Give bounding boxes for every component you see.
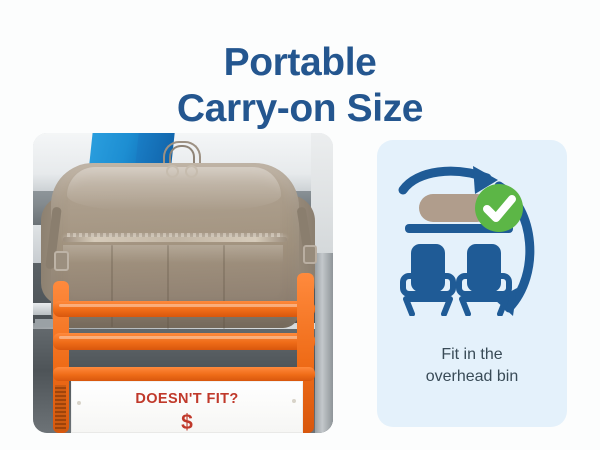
page-title-line-2: Carry-on Size — [0, 86, 600, 132]
bag-pocket-highlight — [63, 245, 283, 263]
overhead-bin-icon — [395, 164, 549, 316]
page-title: Portable Carry-on Size — [0, 40, 600, 132]
kiosk-metal-edge — [315, 253, 333, 433]
page-title-line-1: Portable — [0, 40, 600, 86]
bag-zipper — [63, 237, 287, 242]
sizer-vent-slots — [55, 385, 66, 431]
info-card-caption: Fit in the overhead bin — [377, 344, 567, 388]
caption-line-1: Fit in the — [377, 344, 567, 366]
bag-handle-ring — [166, 165, 179, 178]
airport-bag-sizer-photo: PLUS FLEX DOESN'T FIT? $ — [33, 133, 333, 433]
sizer-bar-highlight — [59, 336, 309, 339]
airplane-seat-left — [403, 244, 453, 314]
sizer-bar-highlight — [59, 304, 309, 307]
sizer-bar-shelf — [53, 367, 315, 381]
success-check-circle — [475, 184, 523, 232]
airplane-seat-right — [459, 244, 509, 314]
bag-handle-ring — [185, 165, 198, 178]
bag-clip-right — [303, 245, 317, 264]
caption-line-2: overhead bin — [377, 366, 567, 388]
bag-clip-left — [54, 251, 69, 271]
sizer-sign-price: $ — [71, 411, 303, 433]
sizer-sign-headline: DOESN'T FIT? — [71, 391, 303, 407]
overhead-bin-info-card: Fit in the overhead bin — [377, 140, 567, 427]
